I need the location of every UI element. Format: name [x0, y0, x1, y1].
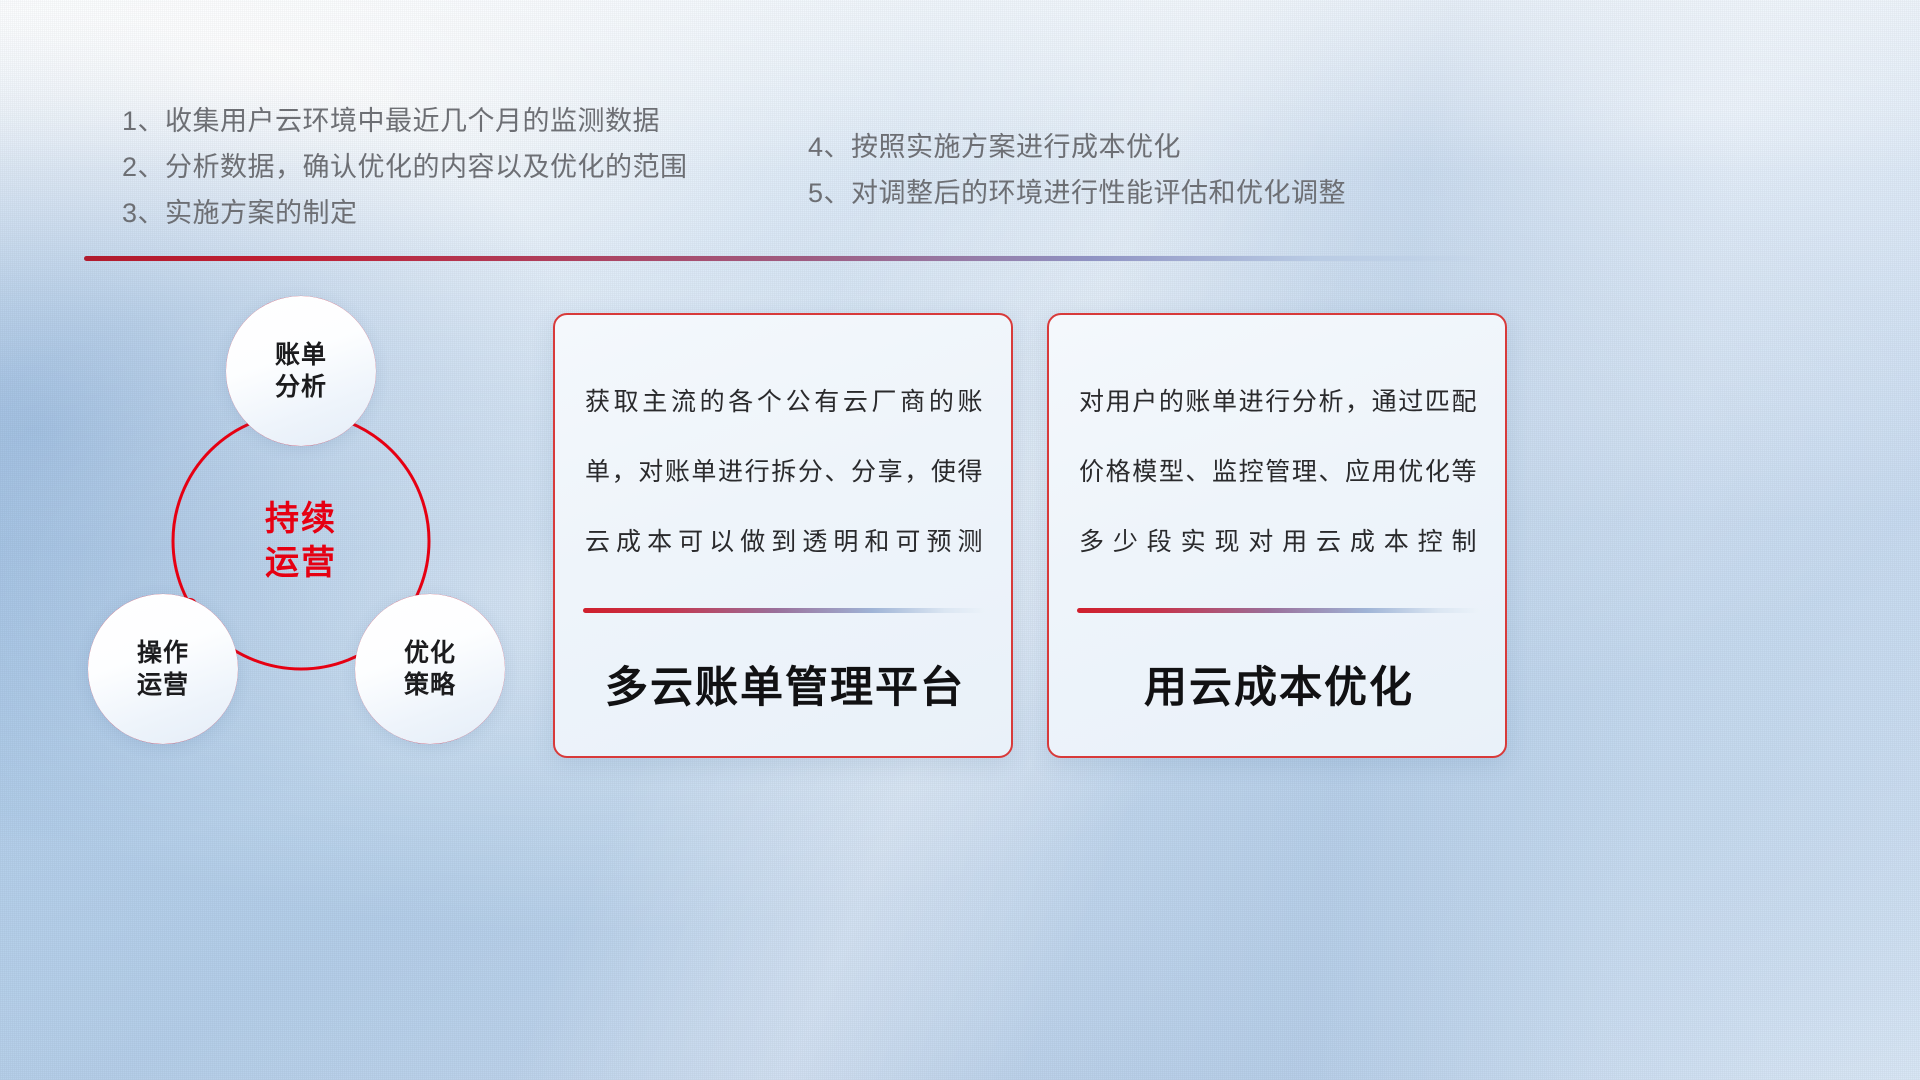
venn-lobe-operations-label: 操作 运营 [137, 637, 189, 702]
card-accent-rule [583, 608, 985, 613]
venn-lobe-billing-analysis-label: 账单 分析 [275, 339, 327, 404]
bullet-item-3: 3、实施方案的制定 [122, 190, 688, 236]
venn-lobe-optimization[interactable]: 优化 策略 [355, 594, 505, 744]
bullet-item-1: 1、收集用户云环境中最近几个月的监测数据 [122, 98, 688, 144]
section-divider-line [84, 256, 1482, 261]
venn-lobe-label-line1: 优化 [404, 639, 456, 667]
venn-lobe-label-line2: 策略 [404, 671, 456, 699]
card-cloud-cost-optimization[interactable]: 对用户的账单进行分析，通过匹配价格模型、监控管理、应用优化等多少段实现对用云成本… [1047, 313, 1507, 758]
card-accent-rule [1077, 608, 1479, 613]
card-title: 用云成本优化 [1077, 653, 1481, 715]
venn-lobe-label-line1: 操作 [137, 639, 189, 667]
venn-lobe-operations[interactable]: 操作 运营 [88, 594, 238, 744]
venn-lobe-billing-analysis[interactable]: 账单 分析 [226, 296, 376, 446]
card-title: 多云账单管理平台 [583, 653, 987, 715]
venn-lobe-optimization-label: 优化 策略 [404, 637, 456, 702]
venn-lobe-label-line2: 运营 [137, 671, 189, 699]
venn-center-label: 持续 运营 [191, 481, 411, 601]
venn-lobe-label-line1: 账单 [275, 341, 327, 369]
bullet-item-4: 4、按照实施方案进行成本优化 [808, 124, 1346, 170]
bullet-item-5: 5、对调整后的环境进行性能评估和优化调整 [808, 170, 1346, 216]
bullet-list-left: 1、收集用户云环境中最近几个月的监测数据 2、分析数据，确认优化的内容以及优化的… [122, 98, 688, 236]
venn-lobe-label-line2: 分析 [275, 373, 327, 401]
venn-diagram: 账单 分析 操作 运营 优化 策略 持续 运营 [70, 286, 540, 776]
venn-center-label-line2: 运营 [265, 544, 337, 582]
venn-center-label-text: 持续 运营 [265, 497, 337, 585]
card-body-text: 对用户的账单进行分析，通过匹配价格模型、监控管理、应用优化等多少段实现对用云成本… [1079, 367, 1477, 577]
card-body-text: 获取主流的各个公有云厂商的账单，对账单进行拆分、分享，使得云成本可以做到透明和可… [585, 367, 983, 577]
card-multi-cloud-billing-platform[interactable]: 获取主流的各个公有云厂商的账单，对账单进行拆分、分享，使得云成本可以做到透明和可… [553, 313, 1013, 758]
venn-center-label-line1: 持续 [265, 500, 337, 538]
bullet-list-right: 4、按照实施方案进行成本优化 5、对调整后的环境进行性能评估和优化调整 [808, 124, 1346, 216]
bullet-item-2: 2、分析数据，确认优化的内容以及优化的范围 [122, 144, 688, 190]
